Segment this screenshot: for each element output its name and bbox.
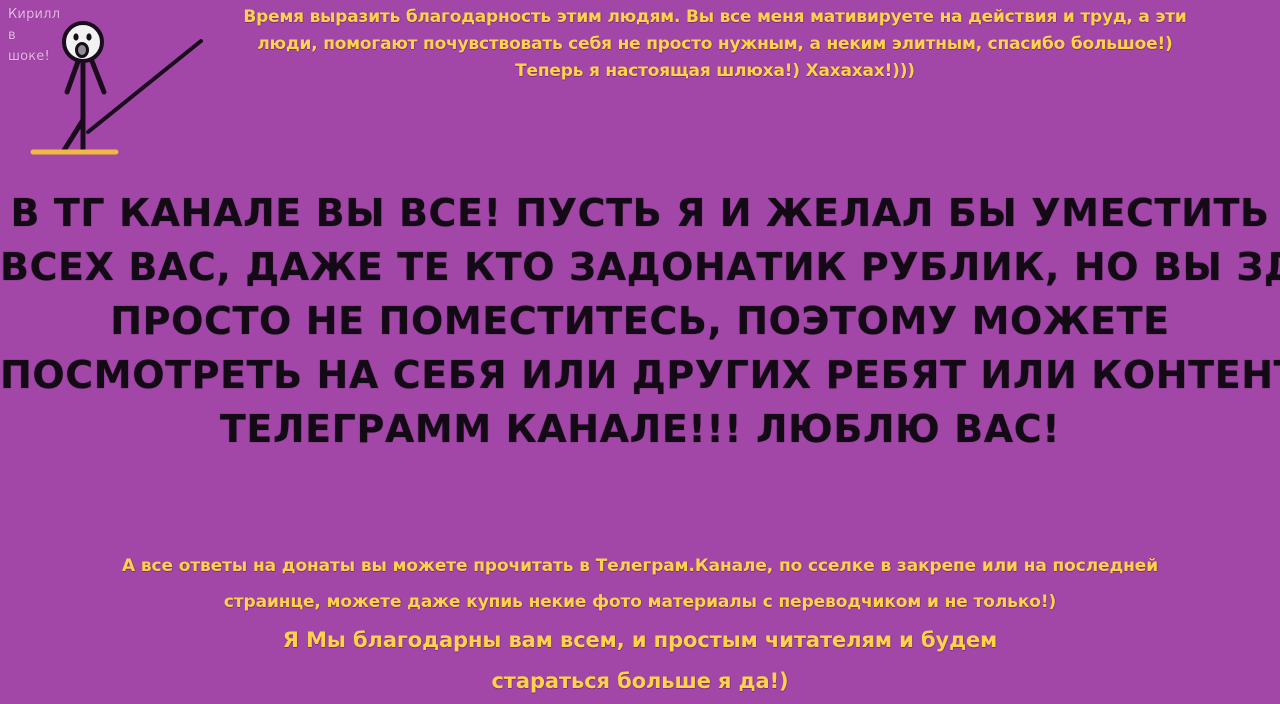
headline-line-2: ВСЕХ ВАС, ДАЖЕ ТЕ КТО ЗАДОНАТИК РУБЛИК, …	[0, 240, 1280, 294]
right-arm-line	[90, 56, 104, 92]
top-paragraph-line-2: люди, помогают почувствовать себя не про…	[190, 31, 1240, 58]
pole-line	[88, 41, 201, 132]
right-eye-icon	[86, 33, 91, 40]
figure-caption: Кирилл в шоке!	[8, 4, 70, 67]
bottom-emphasis-line-1: Я Мы благодарны вам всем, и простым чита…	[40, 620, 1240, 661]
bottom-paragraph-line-2: страинце, можете даже купиь некие фото м…	[40, 584, 1240, 620]
headline-line-5: ТЕЛЕГРАММ КАНАЛЕ!!! ЛЮБЛЮ ВАС!	[0, 402, 1280, 456]
bottom-paragraph-emphasis: Я Мы благодарны вам всем, и простым чита…	[40, 620, 1240, 702]
top-paragraph-line-1: Время выразить благодарность этим людям.…	[190, 4, 1240, 31]
slide-canvas: Кирилл в шоке! Время выразить благодарно…	[0, 0, 1280, 704]
headline-block: В ТГ КАНАЛЕ ВЫ ВСЕ! ПУСТЬ Я И ЖЕЛАЛ БЫ У…	[0, 186, 1280, 456]
headline-line-1: В ТГ КАНАЛЕ ВЫ ВСЕ! ПУСТЬ Я И ЖЕЛАЛ БЫ У…	[0, 186, 1280, 240]
left-leg-line	[63, 120, 83, 152]
headline-line-4: ПОСМОТРЕТЬ НА СЕБЯ ИЛИ ДРУГИХ РЕБЯТ ИЛИ …	[0, 348, 1280, 402]
mouth-icon	[77, 44, 88, 57]
bottom-emphasis-line-2: стараться больше я да!)	[40, 661, 1240, 702]
left-eye-icon	[73, 33, 78, 40]
headline-line-3: ПРОСТО НЕ ПОМЕСТИТЕСЬ, ПОЭТОМУ МОЖЕТЕ	[0, 294, 1280, 348]
top-paragraph-line-3: Теперь я настоящая шлюха!) Хахахах!)))	[190, 58, 1240, 85]
bottom-paragraph: А все ответы на донаты вы можете прочита…	[40, 548, 1240, 620]
bottom-paragraph-line-1: А все ответы на донаты вы можете прочита…	[40, 548, 1240, 584]
top-paragraph: Время выразить благодарность этим людям.…	[190, 4, 1240, 85]
